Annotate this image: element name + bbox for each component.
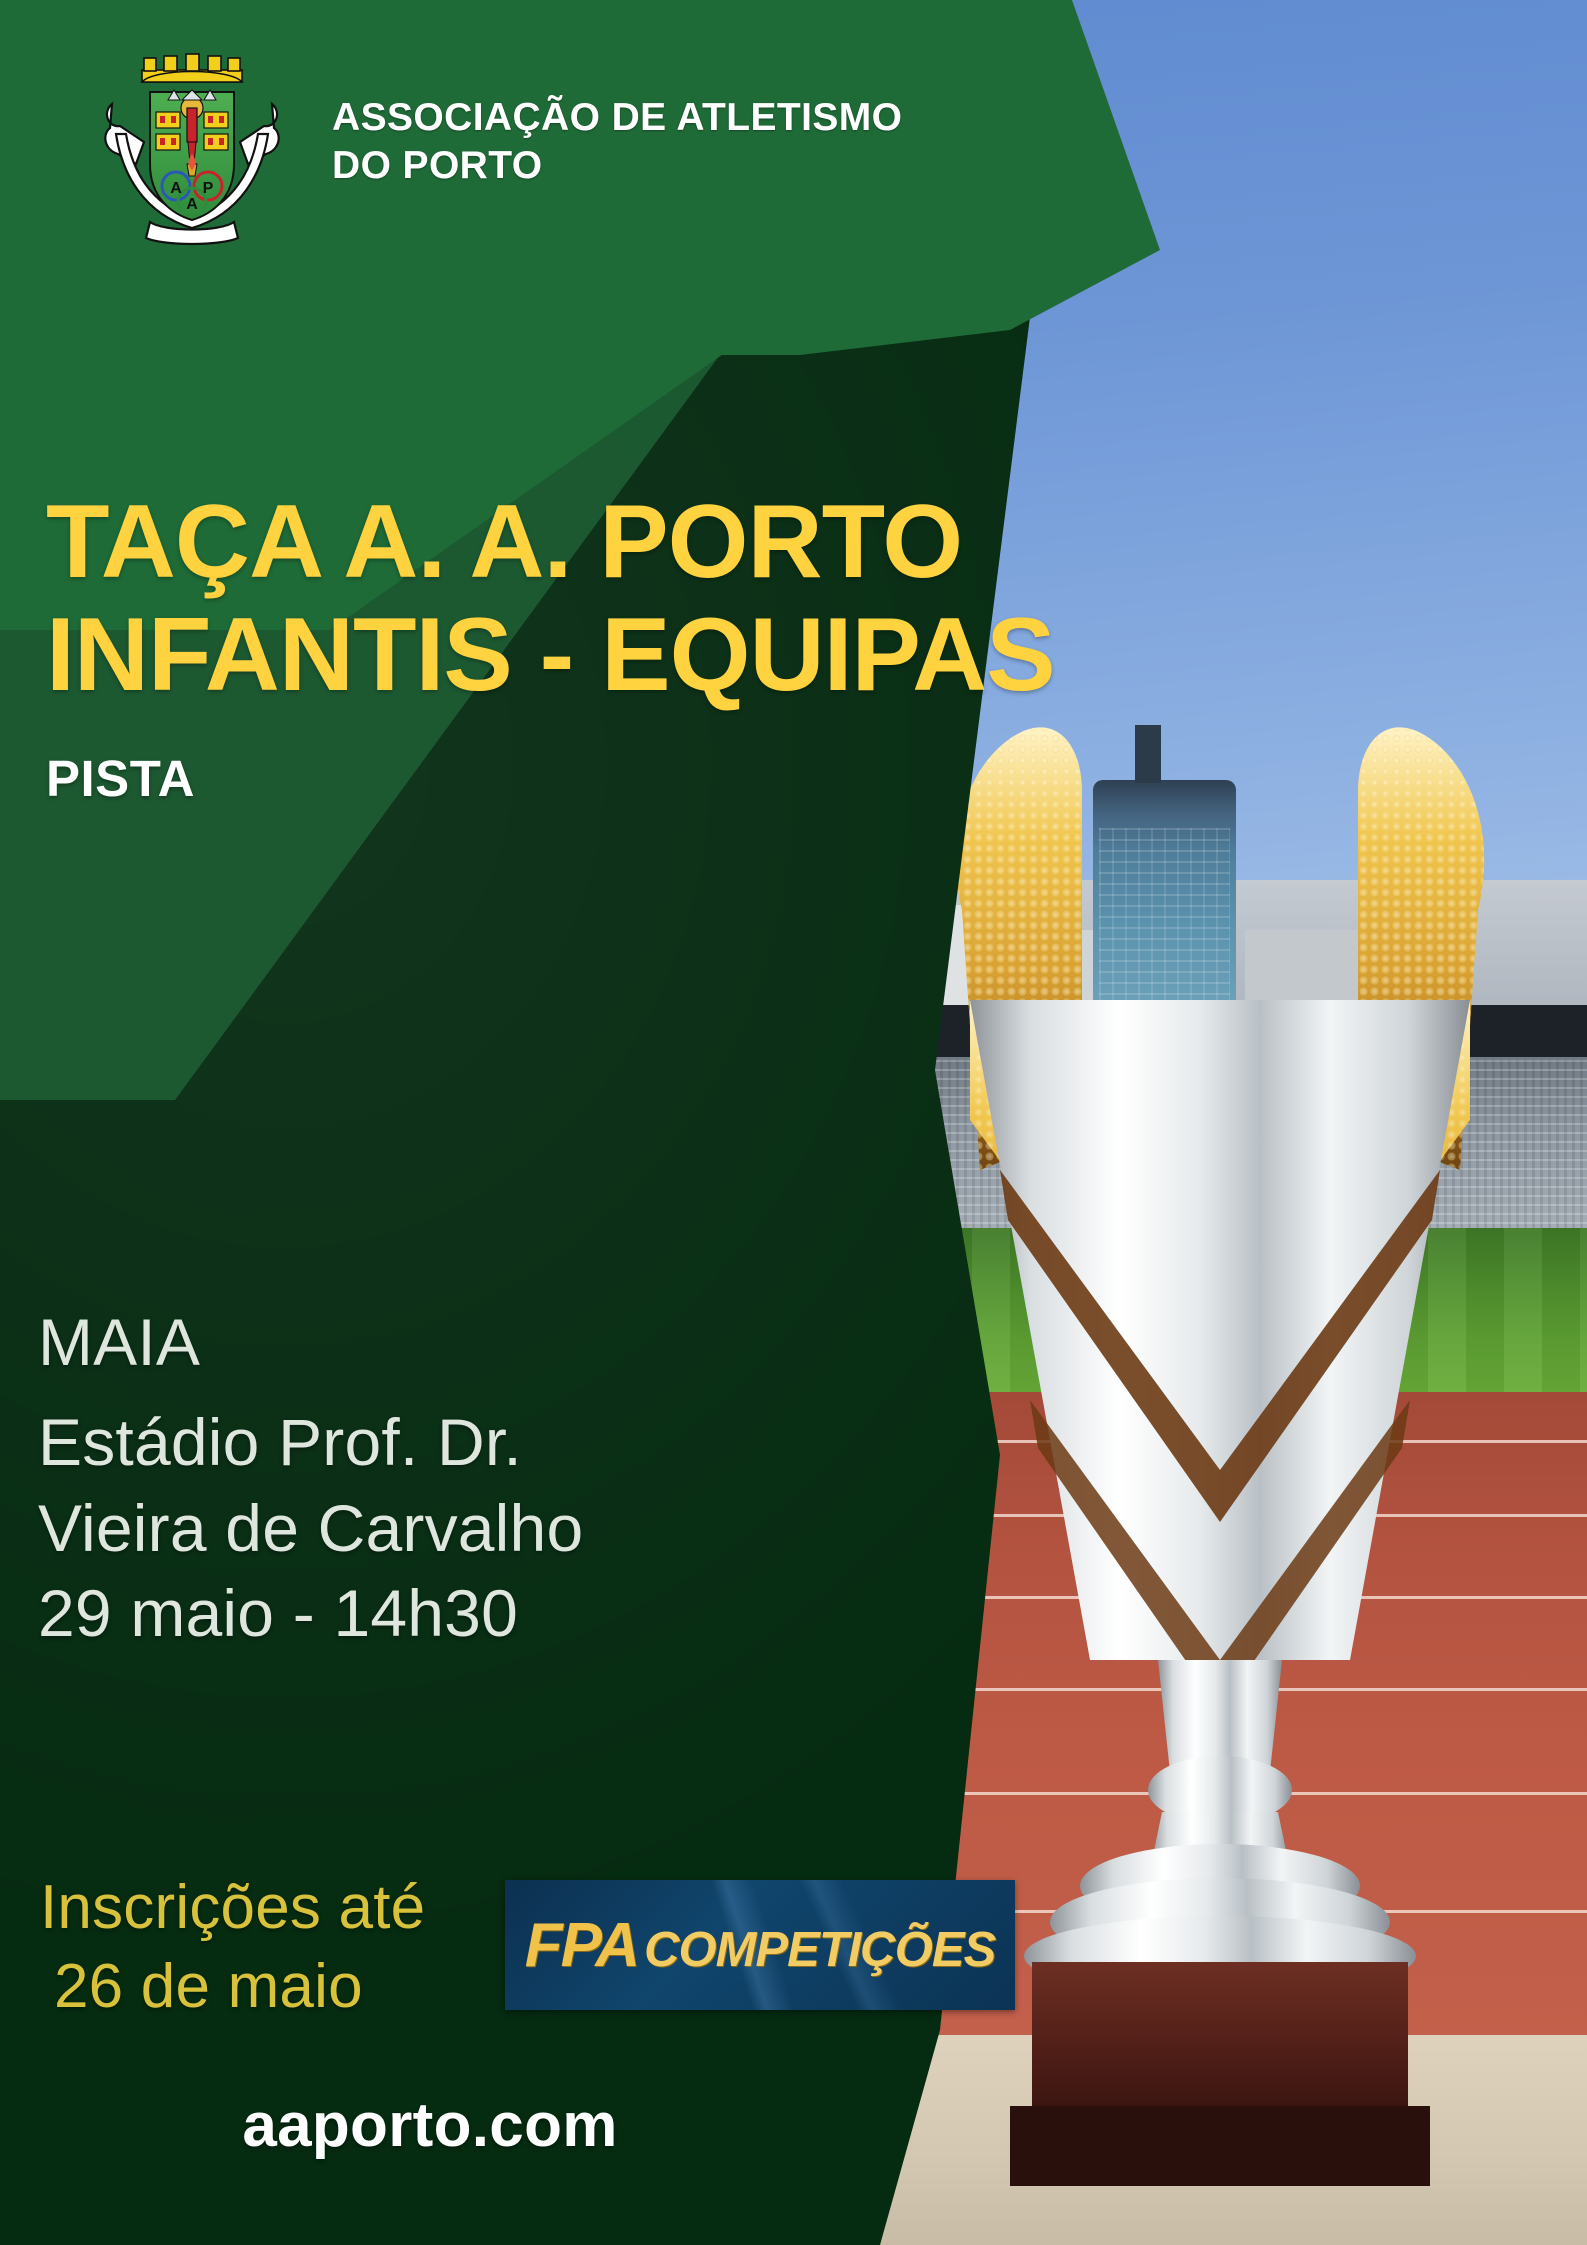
svg-text:A: A bbox=[170, 180, 182, 197]
registration-deadline: 26 de maio bbox=[40, 1947, 560, 2026]
venue-city: MAIA bbox=[38, 1300, 938, 1386]
organization-name-line1: ASSOCIAÇÃO DE ATLETISMO bbox=[332, 94, 902, 142]
venue-block: MAIA Estádio Prof. Dr. Vieira de Carvalh… bbox=[38, 1300, 938, 1657]
event-title-line1: TAÇA A. A. PORTO bbox=[46, 486, 1146, 599]
venue-name-line1: Estádio Prof. Dr. bbox=[38, 1400, 938, 1486]
fpa-competicoes-logo[interactable]: FPA COMPETIÇÕES bbox=[505, 1880, 1015, 2010]
svg-text:P: P bbox=[203, 180, 214, 197]
organization-name: ASSOCIAÇÃO DE ATLETISMO DO PORTO bbox=[332, 94, 902, 189]
fpa-logo-part2: COMPETIÇÕES bbox=[644, 1922, 995, 1978]
event-title-line2: INFANTIS - EQUIPAS bbox=[46, 599, 1146, 712]
registration-line1: Inscrições até bbox=[40, 1868, 560, 1947]
fpa-logo-text: FPA COMPETIÇÕES bbox=[525, 1910, 996, 1981]
website-url[interactable]: aaporto.com bbox=[0, 2090, 860, 2161]
poster-header: A P A ASSOCIAÇÃO DE ATLETISMO DO PORTO bbox=[0, 0, 1160, 360]
fpa-logo-part1: FPA bbox=[525, 1910, 638, 1981]
venue-spacer bbox=[38, 1386, 938, 1400]
organization-name-line2: DO PORTO bbox=[332, 142, 902, 190]
aap-crest-icon: A P A bbox=[92, 46, 292, 246]
trophy-illustration bbox=[940, 700, 1500, 2200]
event-subtitle: PISTA bbox=[46, 749, 1146, 808]
venue-datetime: 29 maio - 14h30 bbox=[38, 1571, 938, 1657]
trophy-base-top bbox=[1032, 1962, 1408, 2112]
trophy-base-bottom bbox=[1010, 2106, 1430, 2186]
event-title-block: TAÇA A. A. PORTO INFANTIS - EQUIPAS PIST… bbox=[46, 486, 1146, 808]
venue-name-line2: Vieira de Carvalho bbox=[38, 1486, 938, 1572]
trophy-cup-body bbox=[970, 1000, 1470, 1660]
trophy-stem-upper bbox=[1158, 1660, 1282, 1772]
registration-block: Inscrições até 26 de maio bbox=[40, 1868, 560, 2027]
poster-root: A P A ASSOCIAÇÃO DE ATLETISMO DO PORTO T… bbox=[0, 0, 1587, 2245]
svg-text:A: A bbox=[186, 196, 198, 213]
